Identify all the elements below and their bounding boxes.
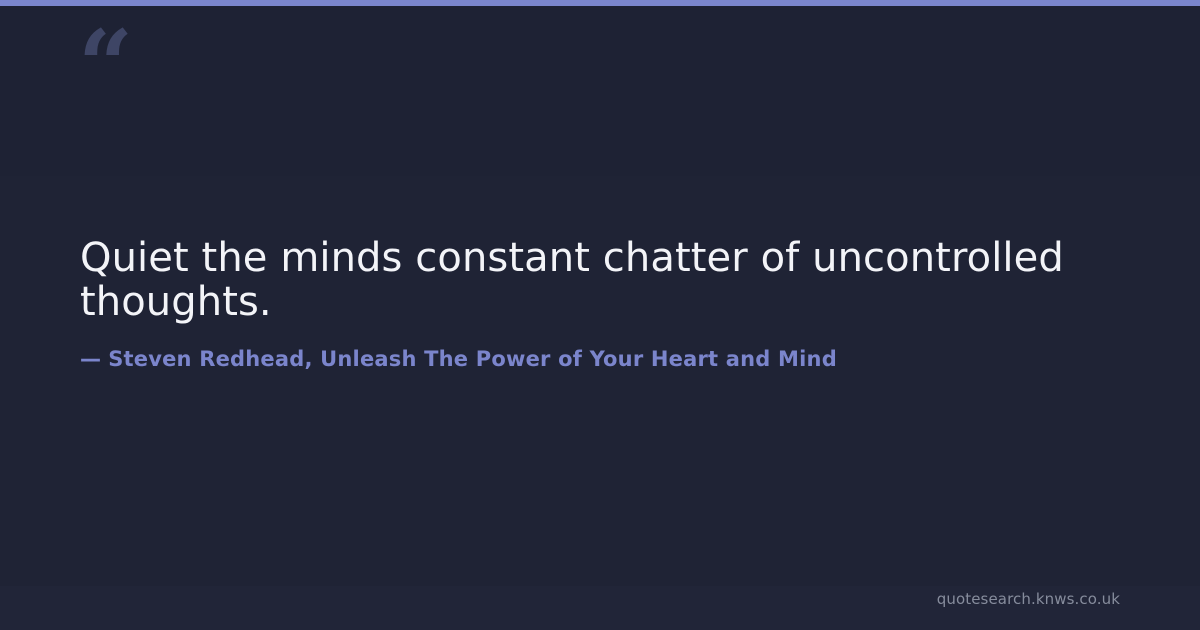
quote-body: Quiet the minds constant chatter of unco… [80, 236, 1090, 324]
attribution-source: Unleash The Power of Your Heart and Mind [320, 347, 837, 371]
quote-card: “ Quiet the minds constant chatter of un… [0, 0, 1200, 630]
quote-text: Quiet the minds constant chatter of unco… [80, 236, 1090, 324]
quote-attribution: —Steven Redhead, Unleash The Power of Yo… [80, 345, 837, 373]
site-watermark: quotesearch.knws.co.uk [937, 589, 1120, 609]
top-accent-bar [0, 0, 1200, 6]
attribution-author: Steven Redhead [108, 347, 304, 371]
attribution-dash: — [80, 347, 101, 371]
attribution-separator: , [304, 347, 320, 371]
background-band-upper [0, 6, 1200, 176]
open-quote-icon: “ [78, 18, 131, 114]
